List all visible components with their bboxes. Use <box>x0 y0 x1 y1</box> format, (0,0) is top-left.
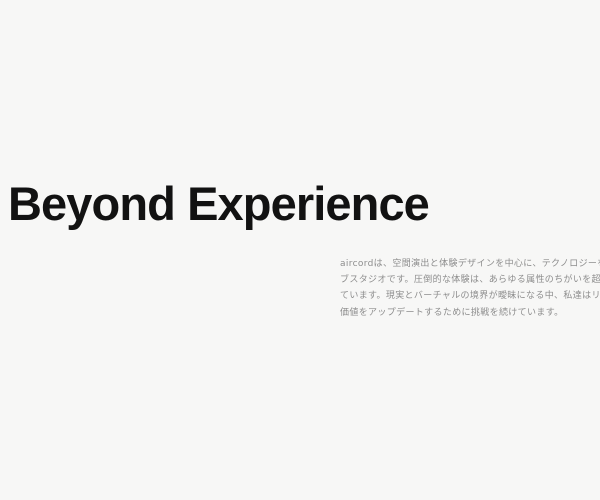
paragraph-line-2: ブスタジオです。圧倒的な体験は、あらゆる属性のちがいを超え <box>340 272 600 288</box>
paragraph-line-3: ています。現実とバーチャルの境界が曖昧になる中、私達はリア <box>340 288 600 304</box>
about-paragraph: aircordは、空間演出と体験デザインを中心に、テクノロジーを用い ブスタジオ… <box>340 256 600 321</box>
paragraph-line-1: aircordは、空間演出と体験デザインを中心に、テクノロジーを用い <box>340 256 600 272</box>
paragraph-line-4: 価値をアップデートするために挑戦を続けています。 <box>340 305 600 321</box>
page-canvas: Beyond Experience aircordは、空間演出と体験デザインを中… <box>0 0 600 500</box>
page-title: Beyond Experience <box>8 176 429 232</box>
